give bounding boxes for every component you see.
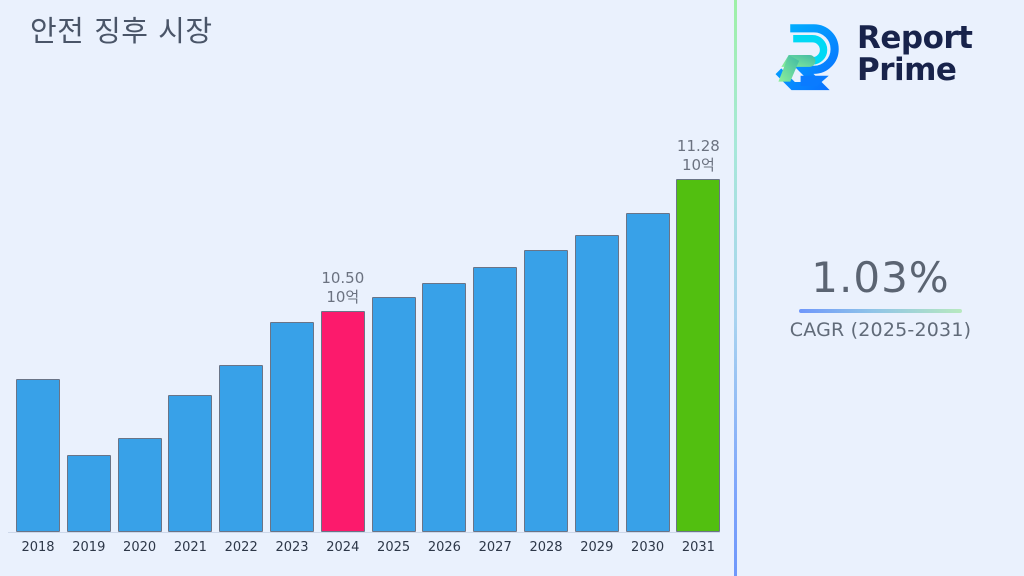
x-axis-line — [8, 532, 720, 533]
bar-2029 — [575, 235, 619, 532]
bar-2020 — [118, 438, 162, 532]
bar-2028 — [524, 250, 568, 532]
data-label-value-2031: 11.28 — [653, 137, 743, 156]
bar-2031 — [676, 179, 720, 532]
brand-wordmark: Report Prime — [857, 23, 973, 86]
cagr-block: 1.03% CAGR (2025-2031) — [737, 255, 1024, 341]
brand-panel: Report Prime 1.03% CAGR (2025-2031) — [737, 0, 1024, 576]
data-label-2024: 10.5010억 — [298, 269, 388, 307]
cagr-divider-rule — [799, 309, 962, 313]
data-label-2031: 11.2810억 — [653, 137, 743, 175]
bar-2019 — [67, 455, 111, 532]
bar-2018 — [16, 379, 60, 532]
bar-2030 — [626, 213, 670, 532]
bar-2025 — [372, 297, 416, 532]
brand-line-1: Report — [857, 23, 973, 55]
infographic-root: 안전 징후 시장 2018201920202021202220232024202… — [0, 0, 1024, 576]
bar-2027 — [473, 267, 517, 532]
data-label-value-2024: 10.50 — [298, 269, 388, 288]
bar-2021 — [168, 395, 212, 532]
x-label-2031: 2031 — [668, 540, 728, 555]
bar-2026 — [422, 283, 466, 532]
bar-2024 — [321, 311, 365, 532]
report-prime-r-mark-icon — [771, 18, 845, 92]
bar-2022 — [219, 365, 263, 532]
data-label-unit-2024: 10억 — [298, 288, 388, 307]
brand-logo: Report Prime — [771, 12, 1011, 98]
data-label-unit-2031: 10억 — [653, 156, 743, 175]
bar-2023 — [270, 322, 314, 532]
brand-line-2: Prime — [857, 55, 973, 87]
cagr-value: 1.03% — [737, 255, 1024, 301]
bar-chart: 2018201920202021202220232024202520262027… — [0, 0, 730, 576]
cagr-label: CAGR (2025-2031) — [737, 319, 1024, 341]
